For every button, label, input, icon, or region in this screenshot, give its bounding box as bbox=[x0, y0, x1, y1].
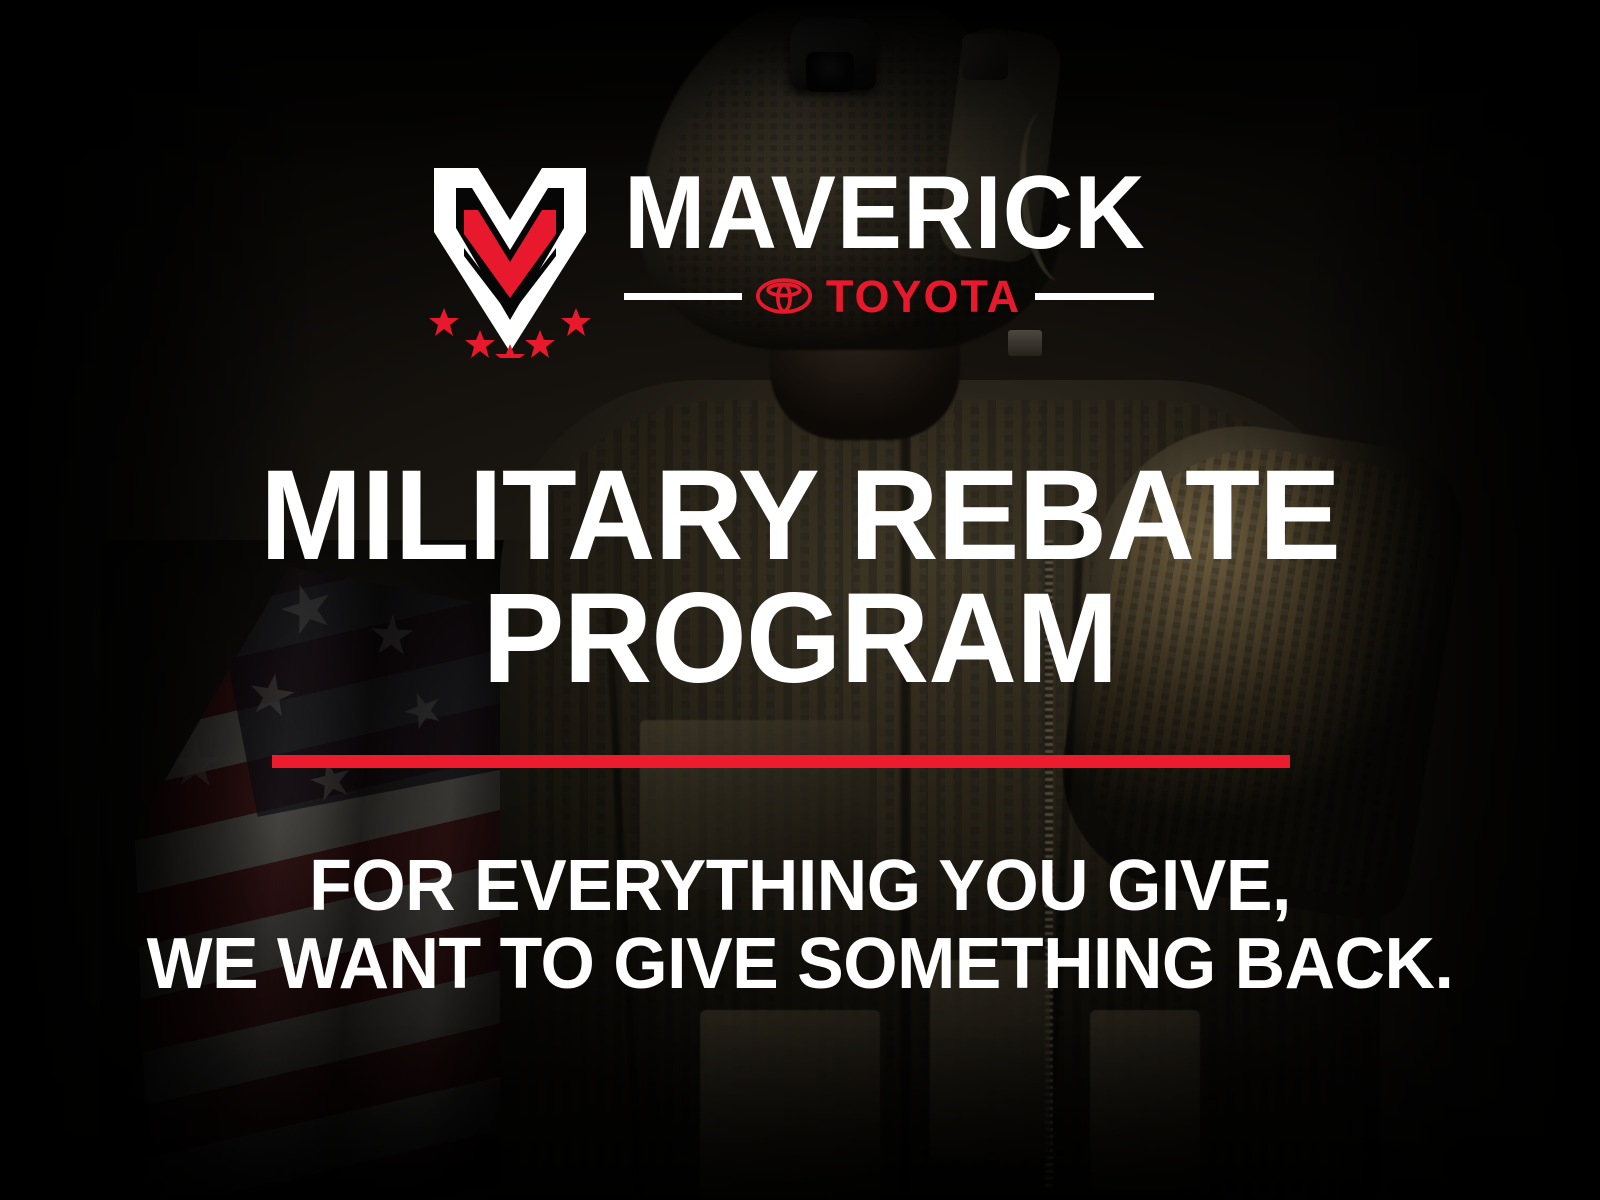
divider-rule-left bbox=[624, 293, 742, 300]
divider-rule-right bbox=[1035, 293, 1153, 300]
brand-name: MAVERICK bbox=[624, 166, 1146, 262]
toyota-emblem-icon bbox=[756, 277, 812, 315]
toyota-row: TOYOTA bbox=[624, 274, 1154, 319]
red-divider bbox=[272, 755, 1290, 768]
headline-line-2: PROGRAM bbox=[32, 578, 1568, 701]
sub-brand-name: TOYOTA bbox=[826, 274, 1021, 319]
military-rebate-poster: MAVERICK TOYOTA MILITARY REBATE PROGRAM bbox=[0, 0, 1600, 1200]
poster-content: MAVERICK TOYOTA MILITARY REBATE PROGRAM bbox=[0, 0, 1600, 1200]
brand-lockup: MAVERICK TOYOTA bbox=[0, 162, 1600, 358]
wordmark: MAVERICK TOYOTA bbox=[624, 162, 1179, 319]
tagline: FOR EVERYTHING YOU GIVE, WE WANT TO GIVE… bbox=[24, 848, 1576, 1004]
chevron-rank-shield-icon bbox=[422, 162, 598, 358]
tagline-line-2: WE WANT TO GIVE SOMETHING BACK. bbox=[24, 926, 1576, 1004]
tagline-line-1: FOR EVERYTHING YOU GIVE, bbox=[309, 846, 1291, 926]
page-title: MILITARY REBATE PROGRAM bbox=[32, 455, 1568, 701]
headline-line-1: MILITARY REBATE bbox=[260, 444, 1340, 587]
